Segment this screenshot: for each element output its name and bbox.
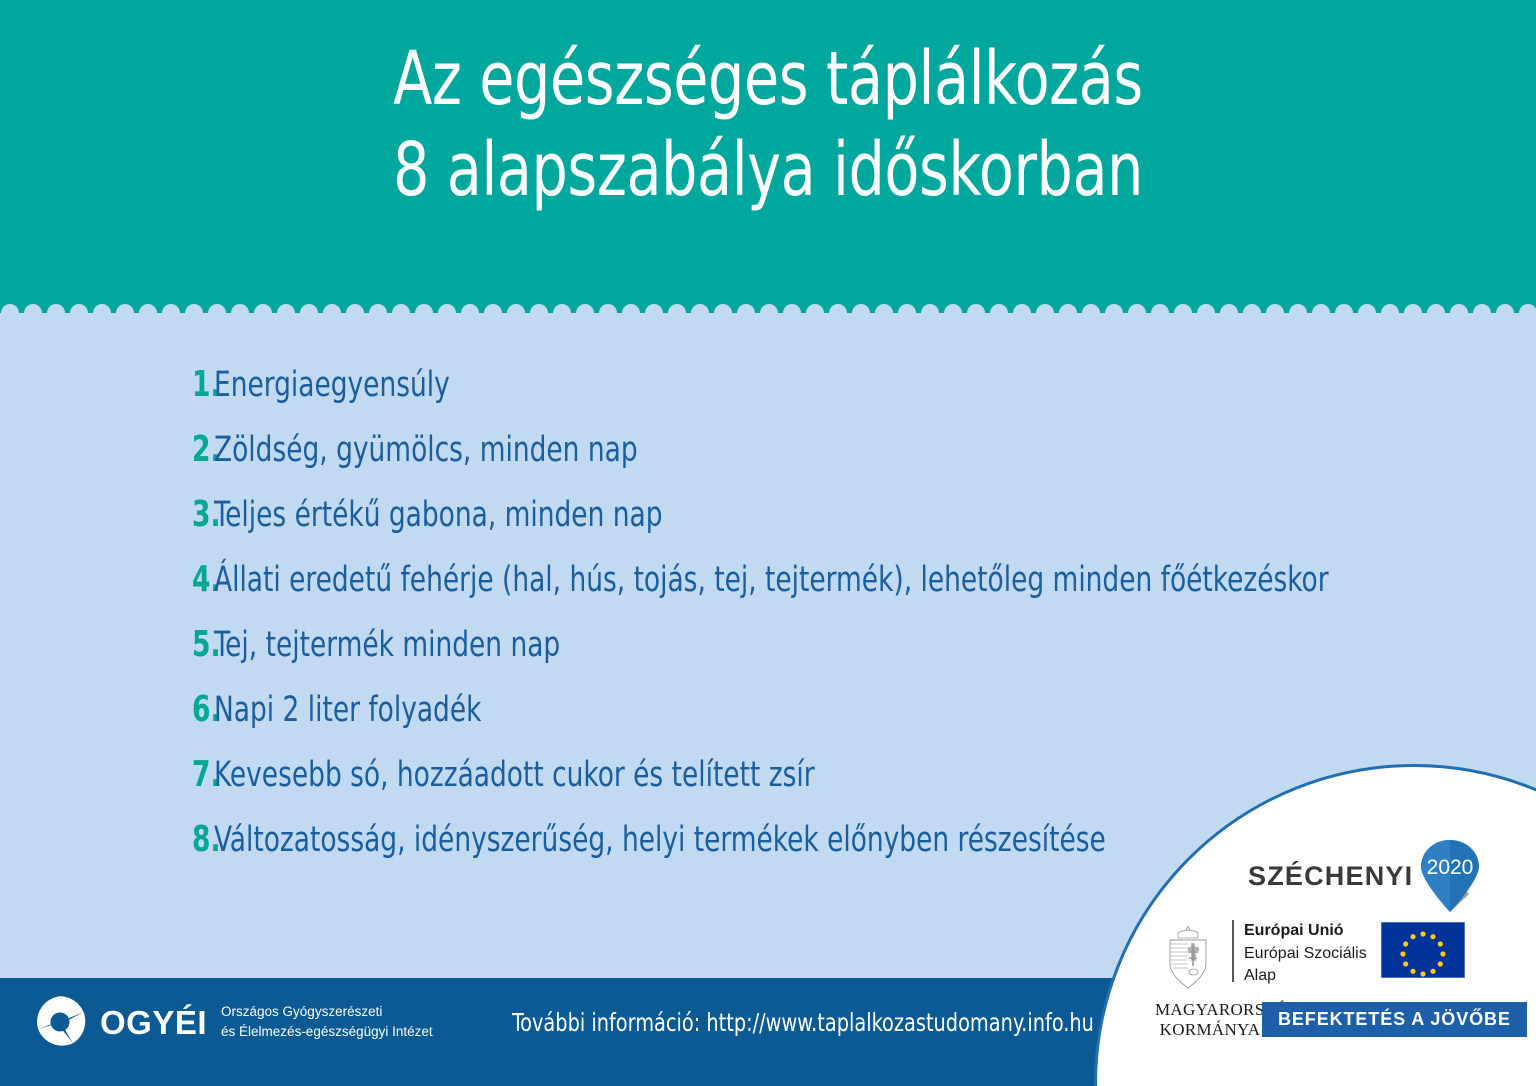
ogyei-subtitle-line2: és Élelmezés-egészségügyi Intézet <box>221 1022 433 1042</box>
infographic-poster: Az egészséges táplálkozás 8 alapszabálya… <box>0 0 1536 1086</box>
list-item: 5. Tej, tejtermék minden nap <box>0 612 1536 677</box>
ogyei-swirl-icon <box>32 994 88 1050</box>
eu-line-union: Európai Unió <box>1244 920 1367 943</box>
list-item-label: Energiaegyensúly <box>214 365 450 405</box>
eu-flag-icon <box>1381 922 1465 978</box>
scallop-divider <box>0 302 1536 328</box>
hungary-coat-of-arms-icon <box>1160 922 1216 992</box>
szechenyi-pin-year: 2020 <box>1427 856 1474 879</box>
ogyei-subtitle-line1: Országos Gyógyszerészeti <box>221 1002 433 1022</box>
more-info-link[interactable]: További információ: http://www.taplalkoz… <box>512 1008 1028 1037</box>
list-item-label: Kevesebb só, hozzáadott cukor és telítet… <box>214 755 815 795</box>
list-item-label: Zöldség, gyümölcs, minden nap <box>214 430 638 470</box>
eu-line-social: Európai Szociális <box>1244 943 1367 966</box>
eu-divider-rule <box>1232 920 1234 982</box>
befektetes-a-jovobe-banner: BEFEKTETÉS A JÖVŐBE <box>1262 1002 1527 1037</box>
list-item: 2. Zöldség, gyümölcs, minden nap <box>0 417 1536 482</box>
ogyei-wordmark: OGYÉI <box>100 1006 207 1039</box>
list-item-label: Napi 2 liter folyadék <box>214 690 481 730</box>
ogyei-logo: OGYÉI Országos Gyógyszerészeti és Élelme… <box>32 994 433 1050</box>
list-item-label: Változatosság, idényszerűség, helyi term… <box>214 820 1106 860</box>
ogyei-subtitle: Országos Gyógyszerészeti és Élelmezés-eg… <box>221 1002 433 1041</box>
list-item: 1. Energiaegyensúly <box>0 352 1536 417</box>
list-item: 6. Napi 2 liter folyadék <box>0 677 1536 742</box>
eu-line-fund: Alap <box>1244 965 1367 988</box>
eu-funding-block: Európai Unió Európai Szociális Alap <box>1160 920 1490 992</box>
list-item: 4. Állati eredetű fehérje (hal, hús, toj… <box>0 547 1536 612</box>
eu-text-group: Európai Unió Európai Szociális Alap <box>1232 920 1465 988</box>
list-item-label: Állati eredetű fehérje (hal, hús, tojás,… <box>214 560 1329 600</box>
list-item-label: Tej, tejtermék minden nap <box>214 625 560 665</box>
szechenyi-wordmark: SZÉCHENYI <box>1248 861 1413 892</box>
list-item: 3. Teljes értékű gabona, minden nap <box>0 482 1536 547</box>
szechenyi-2020-logo: SZÉCHENYI 2020 <box>1248 838 1481 914</box>
magyar-line1: MAGYARORSZÁG <box>1155 1000 1265 1020</box>
page-title: Az egészséges táplálkozás 8 alapszabálya… <box>108 34 1429 216</box>
header-band: Az egészséges táplálkozás 8 alapszabálya… <box>0 0 1536 313</box>
eu-funding-top-row: Európai Unió Európai Szociális Alap <box>1160 920 1490 992</box>
list-item-label: Teljes értékű gabona, minden nap <box>214 495 663 535</box>
eu-fund-lines: Európai Unió Európai Szociális Alap <box>1244 920 1367 988</box>
magyarorszag-kormanya-label: MAGYARORSZÁG KORMÁNYA <box>1155 1000 1265 1040</box>
szechenyi-pin-icon: 2020 <box>1419 838 1481 914</box>
magyar-line2: KORMÁNYA <box>1155 1020 1265 1040</box>
